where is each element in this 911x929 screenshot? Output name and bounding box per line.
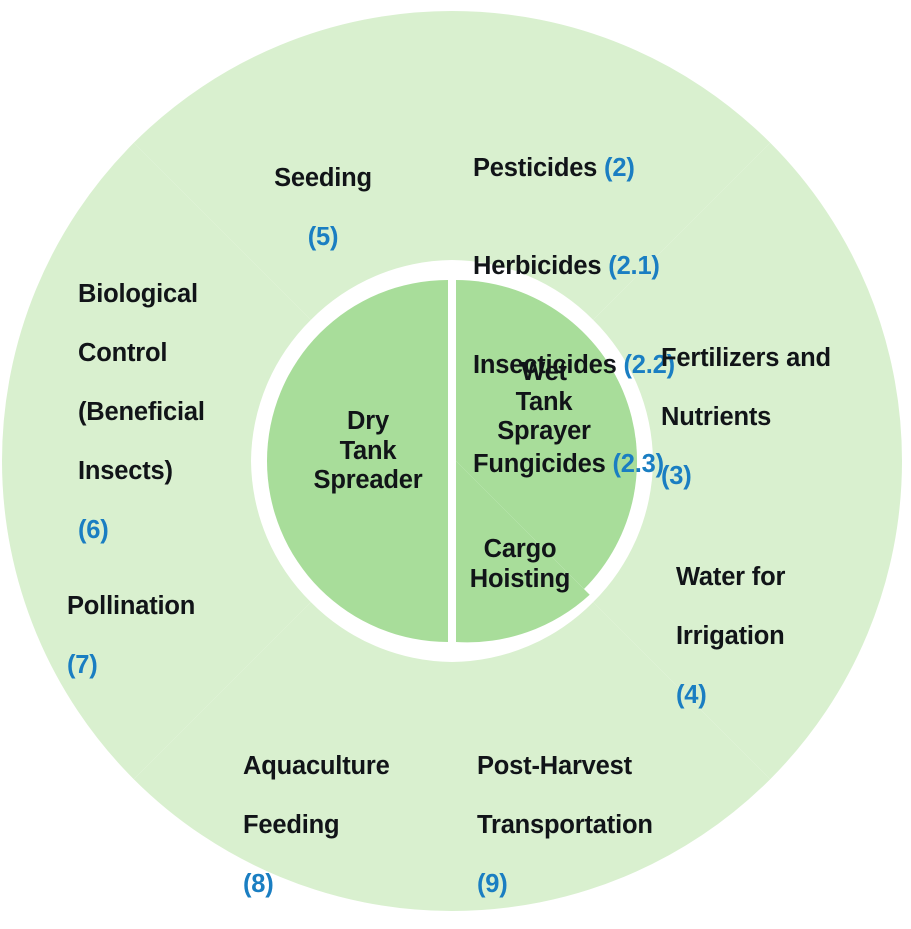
wheel-svg: [0, 0, 911, 918]
wheel-diagram: Pesticides (2) Herbicides (2.1) Insectic…: [0, 0, 911, 918]
inner-circle-group: [267, 280, 637, 642]
outer-ring-group: [2, 11, 902, 911]
